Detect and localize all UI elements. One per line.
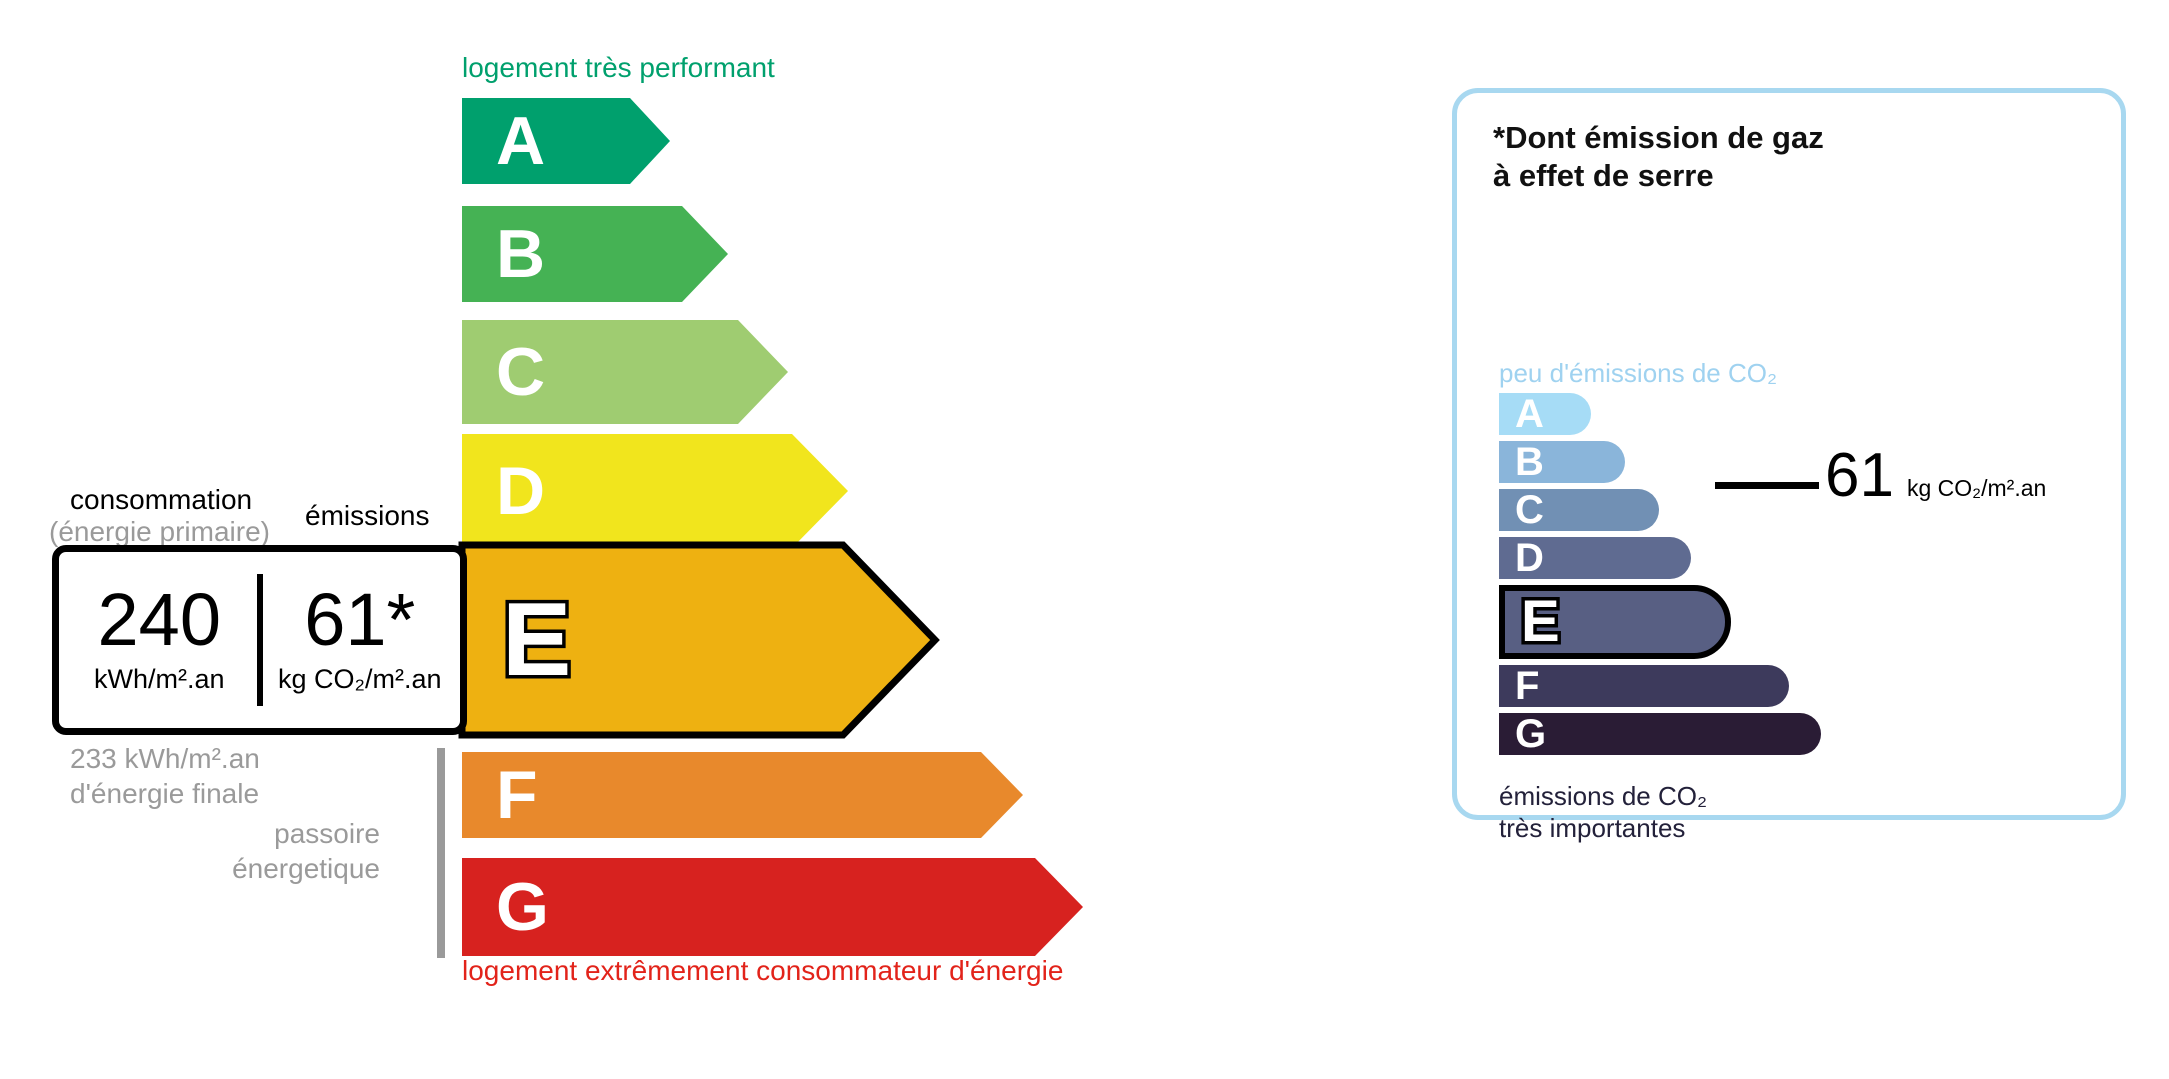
energy-class-letter-b: B (496, 220, 545, 288)
co2-class-letter-b: B (1515, 442, 1544, 482)
energy-class-row-c[interactable]: C (462, 320, 788, 424)
co2-emissions-panel: *Dont émission de gazà effet de serre pe… (1452, 88, 2126, 820)
co2-class-row-b[interactable]: B (1499, 441, 1625, 483)
label-consommation: consommation (70, 484, 252, 516)
label-emissions: émissions (305, 500, 429, 532)
energy-class-row-d[interactable]: D (462, 434, 848, 548)
energy-arrow-a: A (462, 98, 670, 184)
co2-top-caption: peu d'émissions de CO₂ (1499, 358, 1777, 389)
label-energie-finale: 233 kWh/m².and'énergie finale (70, 742, 260, 811)
co2-class-letter-f: F (1515, 666, 1539, 706)
co2-callout-value: 61 (1825, 445, 1894, 507)
primary-energy-unit: kWh/m².an (94, 664, 225, 695)
co2-class-letter-d: D (1515, 538, 1544, 578)
co2-bar-f (1499, 665, 1789, 707)
energy-class-letter-a: A (496, 107, 545, 175)
primary-energy-value: 240 (98, 585, 221, 655)
energy-class-letter-c: C (496, 338, 545, 406)
energy-arrow-g: G (462, 858, 1083, 956)
co2-bar-a (1499, 393, 1591, 435)
energy-class-letter-d: D (496, 457, 545, 525)
co2-class-row-d[interactable]: D (1499, 537, 1691, 579)
passoire-indicator-bar (437, 748, 445, 958)
co2-class-row-g[interactable]: G (1499, 713, 1821, 755)
label-passoire-energetique: passoireénergetique (170, 817, 380, 886)
energy-arrow-c: C (462, 320, 788, 424)
energy-bottom-caption: logement extrêmement consommateur d'éner… (462, 955, 1063, 987)
emission-value: 61* (304, 585, 415, 655)
co2-class-letter-g: G (1515, 714, 1546, 754)
energy-arrow-f: F (462, 752, 1023, 838)
co2-panel-title: *Dont émission de gazà effet de serre (1493, 119, 1824, 195)
energy-arrow-e: E (462, 545, 935, 735)
energy-class-letter-e: E (502, 588, 571, 692)
co2-class-row-a[interactable]: A (1499, 393, 1591, 435)
energy-class-letter-f: F (496, 761, 538, 829)
emission-value-cell: 61* kg CO₂/m².an (260, 552, 461, 728)
energy-class-row-g[interactable]: G (462, 858, 1083, 956)
co2-class-letter-a: A (1515, 394, 1544, 434)
energy-class-letter-g: G (496, 873, 549, 941)
energy-value-box: 240 kWh/m².an 61* kg CO₂/m².an (52, 545, 467, 735)
co2-class-row-e[interactable]: E (1499, 585, 1731, 659)
energy-class-row-a[interactable]: A (462, 98, 670, 184)
co2-class-letter-c: C (1515, 490, 1544, 530)
co2-class-row-f[interactable]: F (1499, 665, 1789, 707)
co2-callout-unit: kg CO₂/m².an (1907, 475, 2046, 502)
co2-class-row-c[interactable]: C (1499, 489, 1659, 531)
co2-bar-g (1499, 713, 1821, 755)
co2-callout-leader-line (1715, 482, 1819, 489)
energy-consumption-chart: logement très performant A B C D E F G c… (0, 0, 1400, 1079)
energy-top-caption: logement très performant (462, 52, 775, 84)
energy-class-row-b[interactable]: B (462, 206, 728, 302)
co2-bottom-caption: émissions de CO₂très importantes (1499, 781, 1707, 844)
co2-class-letter-e: E (1521, 593, 1560, 651)
energy-arrow-b: B (462, 206, 728, 302)
label-energie-primaire: (énergie primaire) (49, 516, 270, 548)
primary-energy-value-cell: 240 kWh/m².an (59, 552, 260, 728)
energy-arrow-d: D (462, 434, 848, 548)
emission-unit: kg CO₂/m².an (278, 664, 442, 695)
energy-class-row-e[interactable]: E (462, 545, 935, 735)
energy-class-row-f[interactable]: F (462, 752, 1023, 838)
